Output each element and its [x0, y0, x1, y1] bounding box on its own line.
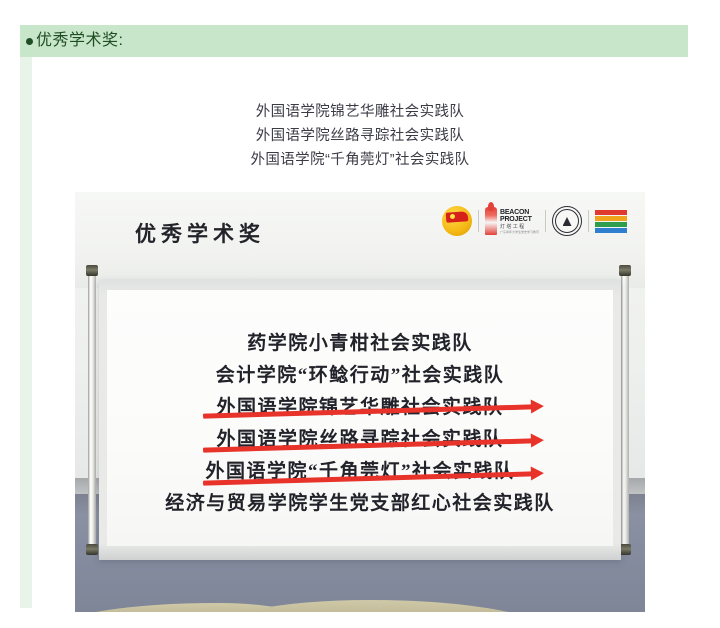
photo-heading: 优秀学术奖 [135, 218, 265, 248]
stripe [595, 228, 627, 233]
section-header: 优秀学术奖: [20, 25, 688, 57]
bullet-icon [26, 38, 33, 45]
beacon-label-en-1: BEACON [500, 209, 539, 216]
beacon-project-logo-icon: BEACON PROJECT 灯 塔 工 程 广东青年大学生党史学习教育 [485, 206, 539, 236]
communist-youth-league-emblem-icon [442, 206, 472, 236]
stanchion-post-left [88, 265, 96, 555]
beacon-label-en-2: PROJECT [500, 216, 539, 223]
beacon-torch-icon [485, 207, 497, 235]
photo-header-band: 优秀学术奖 BEACON PROJECT 灯 塔 工 程 广东青年大学生党史学习… [75, 192, 645, 288]
stripe [595, 216, 627, 221]
award-board: 药学院小青柑社会实践队 会计学院“环鲶行动”社会实践队 外国语学院锦艺华雕社会实… [99, 280, 621, 560]
award-board-text: 药学院小青柑社会实践队 会计学院“环鲶行动”社会实践队 外国语学院锦艺华雕社会实… [107, 328, 613, 520]
board-line: 药学院小青柑社会实践队 [107, 328, 613, 360]
logo-row: BEACON PROJECT 灯 塔 工 程 广东青年大学生党史学习教育 [442, 204, 627, 238]
university-seal-icon [552, 206, 582, 236]
team-list-item: 外国语学院丝路寻踪社会实践队 [32, 124, 688, 148]
highlighted-team-list: 外国语学院锦艺华雕社会实践队 外国语学院丝路寻踪社会实践队 外国语学院“千角莞灯… [32, 100, 688, 172]
stripe [595, 210, 627, 215]
stanchion-post-right [621, 265, 629, 555]
striped-flag-logo-icon [595, 206, 627, 236]
beacon-label-cn: 灯 塔 工 程 [500, 225, 539, 230]
board-line: 经济与贸易学院学生党支部红心社会实践队 [107, 488, 613, 520]
award-photo: 优秀学术奖 BEACON PROJECT 灯 塔 工 程 广东青年大学生党史学习… [75, 192, 645, 612]
board-line: 会计学院“环鲶行动”社会实践队 [107, 360, 613, 392]
logo-divider [478, 210, 479, 232]
stripe [595, 222, 627, 227]
left-accent-strip [20, 57, 32, 608]
logo-divider [545, 210, 546, 232]
team-list-item: 外国语学院“千角莞灯”社会实践队 [32, 148, 688, 172]
section-title: 优秀学术奖: [36, 33, 123, 49]
beacon-label-sub: 广东青年大学生党史学习教育 [500, 231, 539, 234]
team-list-item: 外国语学院锦艺华雕社会实践队 [32, 100, 688, 124]
logo-divider [588, 210, 589, 232]
award-board-surface: 药学院小青柑社会实践队 会计学院“环鲶行动”社会实践队 外国语学院锦艺华雕社会实… [107, 290, 613, 546]
